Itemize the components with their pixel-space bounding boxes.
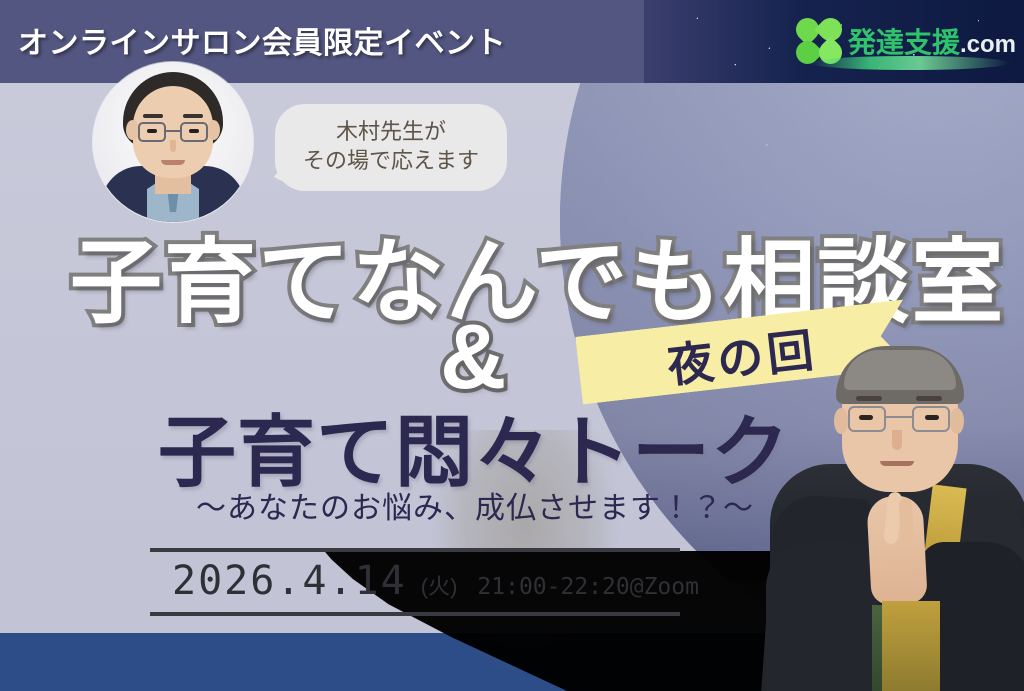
event-poster: オンラインサロン会員限定イベント 発達支援.com 木村先生が その場で応えます [0,0,1024,691]
clover-icon [796,18,842,64]
speech-bubble-line-1: 木村先生が [303,117,479,146]
logo-text: 発達支援.com [848,21,1016,61]
avatar [93,62,253,222]
speech-bubble: 木村先生が その場で応えます [275,104,507,191]
header-title: オンラインサロン会員限定イベント [18,18,506,62]
monk-figure [774,346,1024,691]
speech-bubble-line-2: その場で応えます [303,146,479,175]
logo-swoosh-icon [810,56,1010,70]
event-day-of-week: (火) [421,569,458,601]
logo-text-suffix: .com [960,31,1016,58]
logo-text-main: 発達支援 [848,27,960,58]
event-date: 2026.4.14 [150,558,407,604]
tagline: 〜あなたのお悩み、成仏させます！？〜 [196,483,754,527]
event-time-platform: 21:00-22:20@Zoom [477,574,699,600]
schedule-block: 2026.4.14 (火) 21:00-22:20@Zoom [150,548,680,616]
